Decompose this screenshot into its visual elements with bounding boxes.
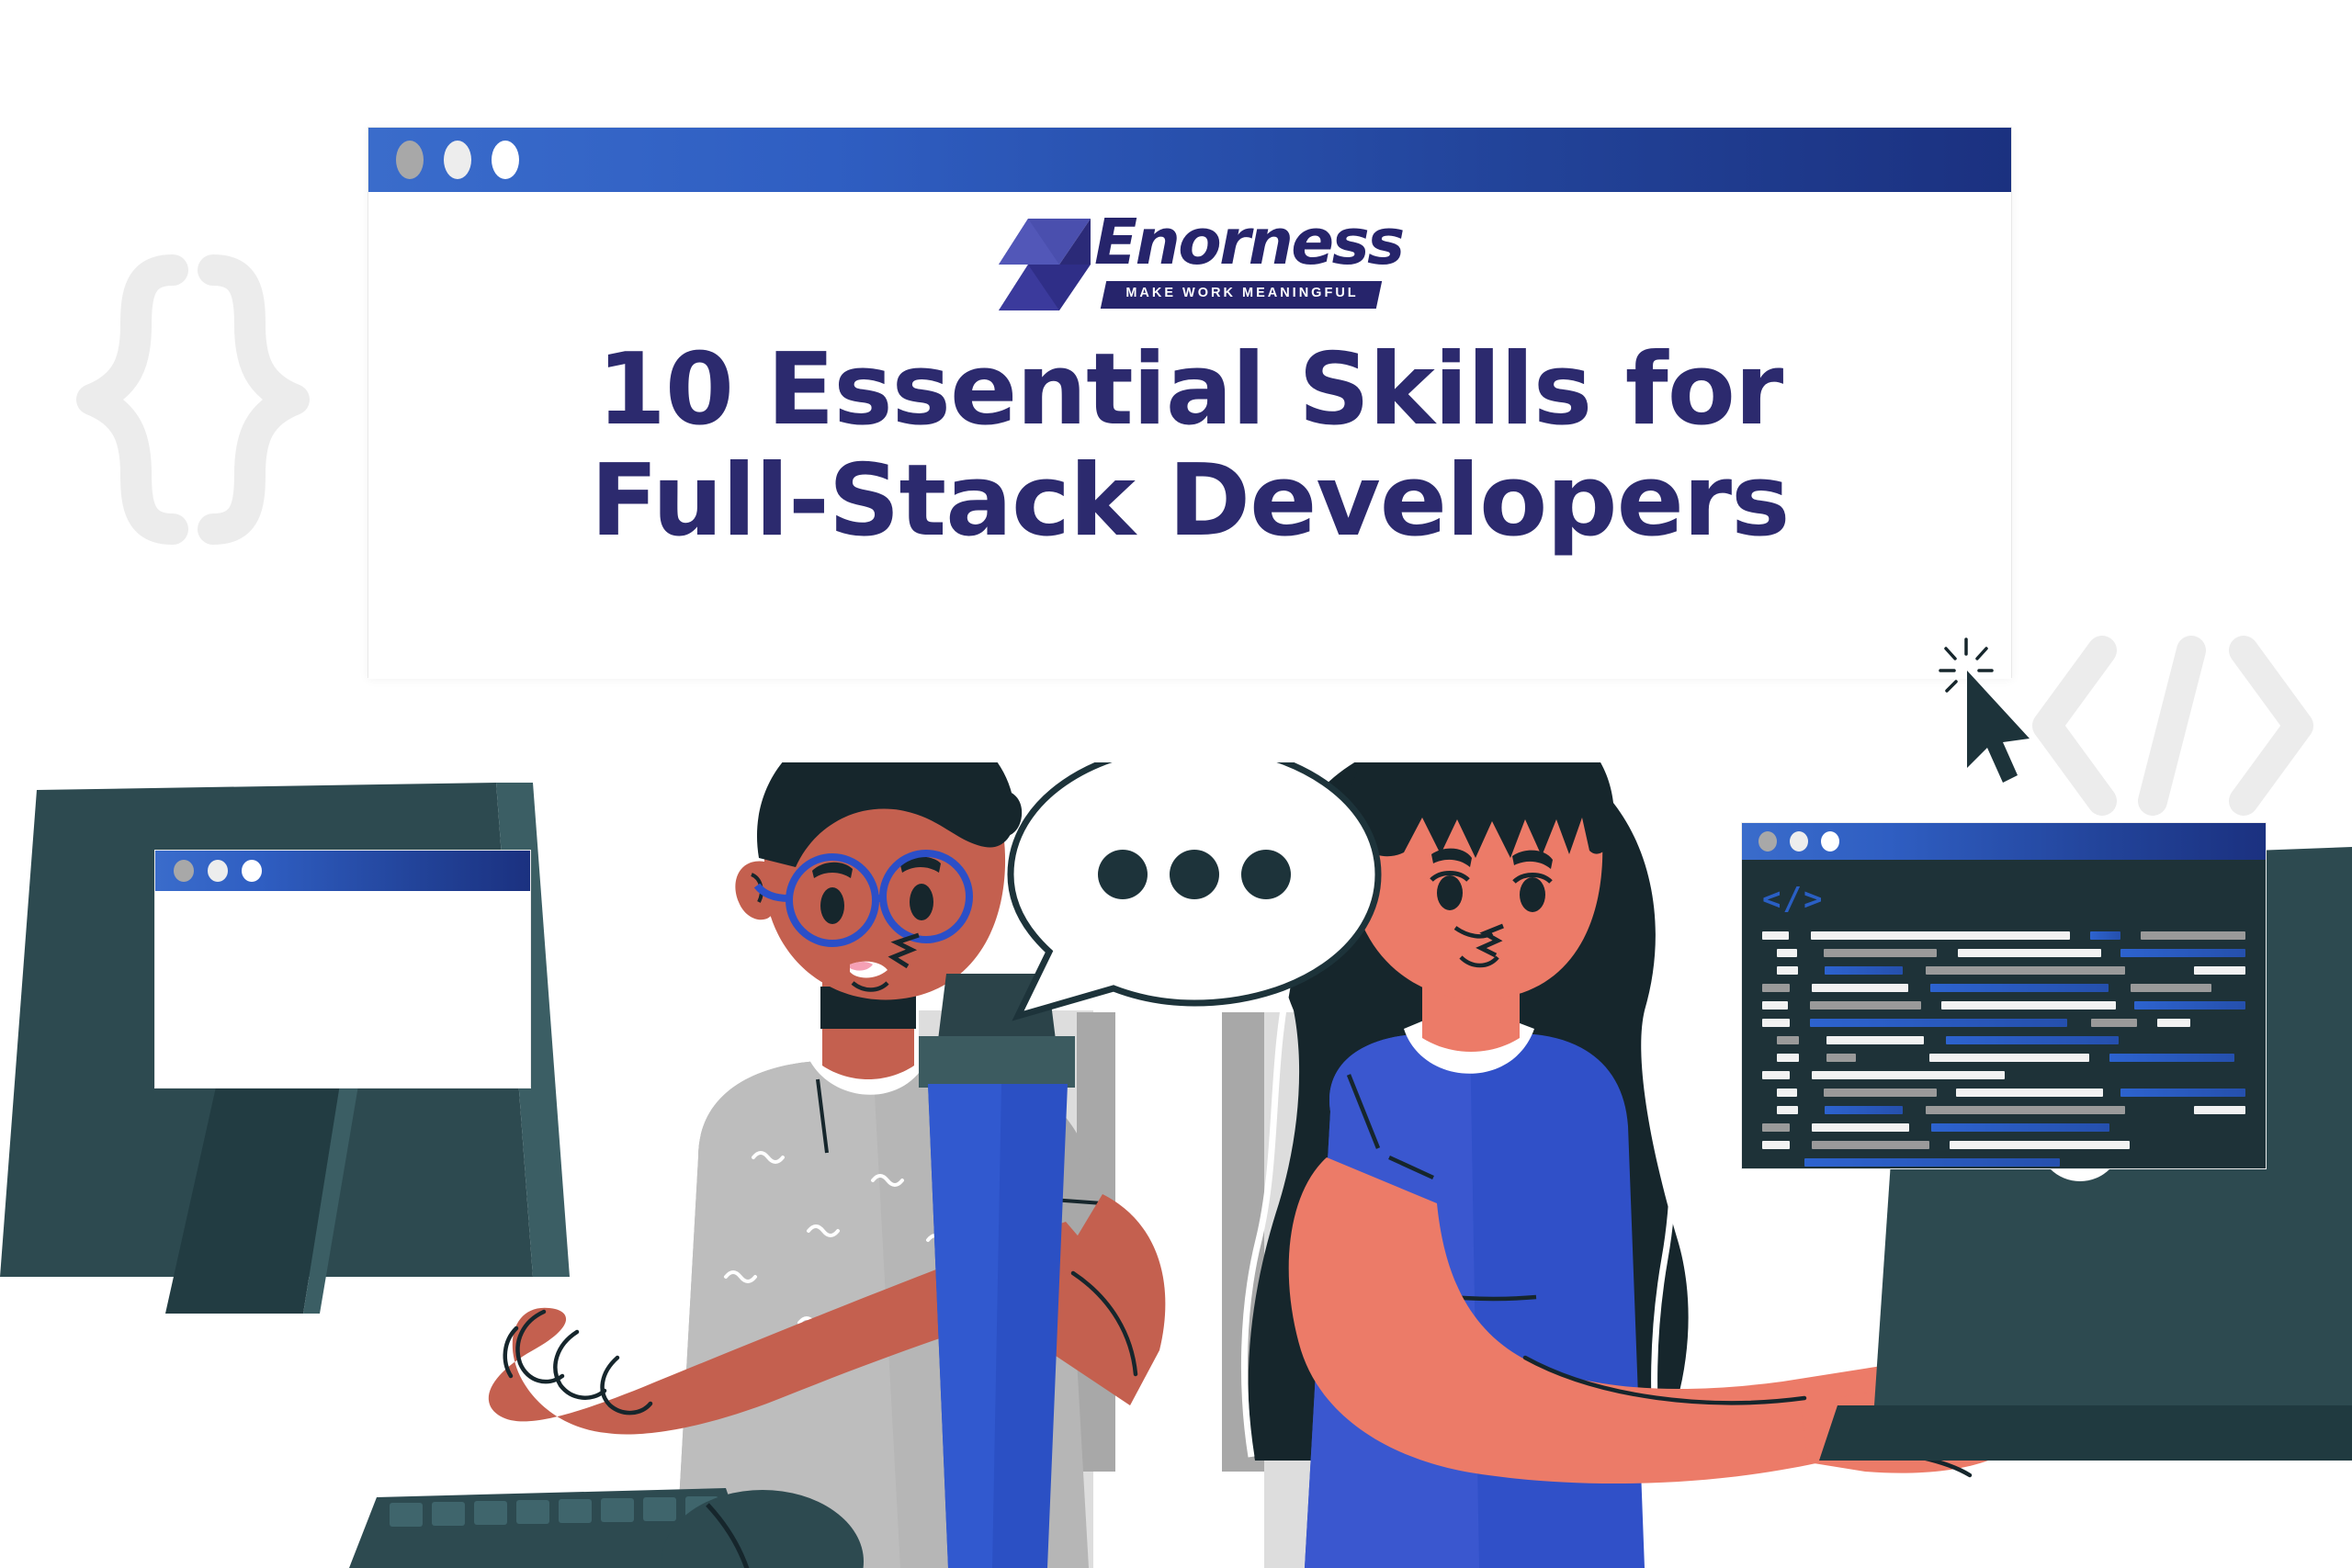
code-segment — [2123, 1001, 2127, 1010]
code-segment — [1812, 1141, 1929, 1149]
code-segment — [1804, 949, 1816, 957]
code-line — [1762, 1017, 2245, 1029]
hero-window-titlebar[interactable] — [368, 128, 2011, 192]
code-segment — [1930, 984, 2109, 992]
code-segment — [1762, 1001, 1788, 1010]
code-segment — [1941, 1001, 2116, 1010]
code-segment — [2132, 966, 2187, 975]
code-segment — [1926, 966, 2125, 975]
code-segment — [1797, 984, 1804, 992]
empty-browser-window[interactable] — [154, 850, 531, 1089]
speech-dot-3 — [1241, 850, 1291, 899]
code-segment — [1958, 949, 2101, 957]
code-segment — [1804, 1158, 2060, 1167]
window-dot-close-icon[interactable] — [1758, 831, 1777, 852]
code-segment — [1806, 1054, 1819, 1062]
code-line — [1777, 1052, 2245, 1064]
code-segment — [1944, 949, 1951, 957]
code-segment — [1826, 1036, 1924, 1044]
code-segment — [1825, 966, 1902, 975]
hero-browser-window[interactable]: Enorness MAKE WORK MEANINGFUL 10 Essenti… — [367, 127, 2012, 678]
brand-wordmark: Enorness — [1094, 211, 1403, 275]
code-segment — [2097, 1054, 2102, 1062]
speech-dot-2 — [1170, 850, 1219, 899]
code-segment — [1777, 966, 1798, 975]
code-segment — [1777, 949, 1797, 957]
code-segment — [1825, 1106, 1902, 1114]
code-segment — [1929, 1054, 2089, 1062]
code-line — [1762, 982, 2245, 994]
code-segment — [2157, 1019, 2190, 1027]
code-segment — [2075, 1019, 2084, 1027]
code-segment — [2131, 984, 2211, 992]
code-line — [1777, 947, 2245, 959]
poster-canvas: Enorness MAKE WORK MEANINGFUL 10 Essenti… — [0, 0, 2352, 1568]
curly-braces-icon — [55, 246, 331, 554]
code-segment — [1926, 1106, 2125, 1114]
code-segment — [1944, 1089, 1950, 1097]
code-segment — [1824, 949, 1937, 957]
code-segment — [1824, 1089, 1937, 1097]
code-line — [1762, 1122, 2245, 1134]
code-segment — [1762, 931, 1789, 940]
code-segment — [1795, 1001, 1803, 1010]
mini-window-titlebar[interactable] — [155, 851, 530, 891]
code-segment — [2120, 1089, 2245, 1097]
code-segment — [1762, 984, 1790, 992]
code-tag-icon: </> — [1762, 884, 2245, 915]
code-line — [1777, 964, 2245, 976]
code-segment — [1762, 1158, 1797, 1167]
code-segment — [2109, 949, 2114, 957]
code-segment — [2116, 984, 2123, 992]
code-segment — [2144, 1019, 2150, 1027]
enorness-chevron-mark-icon — [997, 217, 1100, 312]
code-segment — [1797, 1019, 1803, 1027]
code-line — [1777, 1087, 2245, 1099]
code-segment — [2077, 931, 2083, 940]
code-segment — [1946, 1036, 2119, 1044]
code-segment — [1804, 1089, 1816, 1097]
code-segment — [1762, 1019, 1790, 1027]
window-dot-minimize-icon[interactable] — [208, 860, 228, 882]
speech-bubble-three-dots — [1011, 762, 1378, 1016]
code-line — [1762, 1069, 2245, 1081]
code-segment — [1796, 931, 1804, 940]
code-segment — [2091, 1019, 2137, 1027]
code-lines-list — [1762, 930, 2245, 1168]
code-segment — [2132, 1106, 2187, 1114]
code-segment — [1916, 984, 1923, 992]
code-segment — [1806, 1036, 1819, 1044]
window-dot-close-icon[interactable] — [174, 860, 194, 882]
code-segment — [2134, 1001, 2245, 1010]
code-segment — [2110, 1089, 2114, 1097]
code-segment — [2128, 931, 2133, 940]
code-line — [1762, 1156, 2245, 1168]
code-segment — [1797, 1141, 1804, 1149]
code-segment — [2120, 949, 2245, 957]
code-segment — [1812, 1123, 1909, 1132]
code-segment — [1762, 1123, 1790, 1132]
code-line — [1777, 1034, 2245, 1046]
code-line — [1777, 1104, 2245, 1116]
code-segment — [1956, 1089, 2103, 1097]
code-line — [1762, 999, 2245, 1011]
code-segment — [1777, 1089, 1797, 1097]
code-segment — [1777, 1106, 1798, 1114]
brand-logo: Enorness MAKE WORK MEANINGFUL — [368, 210, 2011, 319]
window-dot-maximize-icon[interactable] — [1821, 831, 1839, 852]
code-segment — [1931, 1036, 1939, 1044]
code-segment — [1805, 1106, 1817, 1114]
code-segment — [2109, 1054, 2234, 1062]
page-title-line-1: 10 Essential Skills for — [405, 335, 1974, 446]
window-dot-close-icon[interactable] — [396, 141, 424, 179]
code-segment — [1937, 1141, 1942, 1149]
code-segment — [1810, 1019, 2067, 1027]
code-segment — [1777, 1054, 1799, 1062]
code-segment — [2141, 931, 2245, 940]
code-segment — [1950, 1141, 2130, 1149]
code-segment — [1917, 1123, 1924, 1132]
code-line — [1762, 1139, 2245, 1151]
code-segment — [1811, 931, 2070, 940]
code-segment — [2194, 966, 2245, 975]
mini-window-content — [155, 891, 530, 1088]
page-title: 10 Essential Skills for Full-Stack Devel… — [368, 319, 2011, 558]
code-segment — [1812, 1071, 2005, 1079]
window-dot-minimize-icon[interactable] — [444, 141, 471, 179]
code-segment — [1931, 1123, 2109, 1132]
code-segment — [1797, 1071, 1804, 1079]
window-dot-maximize-icon[interactable] — [492, 141, 519, 179]
code-segment — [1910, 1106, 1919, 1114]
window-dot-maximize-icon[interactable] — [242, 860, 262, 882]
code-line — [1762, 930, 2245, 942]
hero-window-content: Enorness MAKE WORK MEANINGFUL 10 Essenti… — [368, 192, 2011, 679]
code-segment — [1797, 1123, 1804, 1132]
code-segment — [1762, 1141, 1790, 1149]
code-segment — [1777, 1036, 1799, 1044]
code-segment — [1910, 966, 1919, 975]
code-editor-content: </> — [1742, 860, 2266, 1168]
code-segment — [1826, 1054, 1856, 1062]
speech-dot-1 — [1098, 850, 1148, 899]
code-segment — [1805, 966, 1817, 975]
code-segment — [2194, 1106, 2245, 1114]
code-editor-window[interactable]: </> — [1741, 822, 2267, 1169]
window-dot-minimize-icon[interactable] — [1790, 831, 1808, 852]
page-title-line-2: Full-Stack Developers — [405, 446, 1974, 558]
code-segment — [1810, 1001, 1921, 1010]
code-segment — [1863, 1054, 1922, 1062]
code-segment — [2090, 931, 2120, 940]
mouse-pointer-click-icon — [1939, 634, 2040, 799]
code-window-titlebar[interactable] — [1742, 823, 2266, 860]
brand-tagline: MAKE WORK MEANINGFUL — [1113, 286, 1372, 300]
code-segment — [1812, 984, 1908, 992]
code-segment — [1762, 1071, 1790, 1079]
code-segment — [1928, 1001, 1934, 1010]
